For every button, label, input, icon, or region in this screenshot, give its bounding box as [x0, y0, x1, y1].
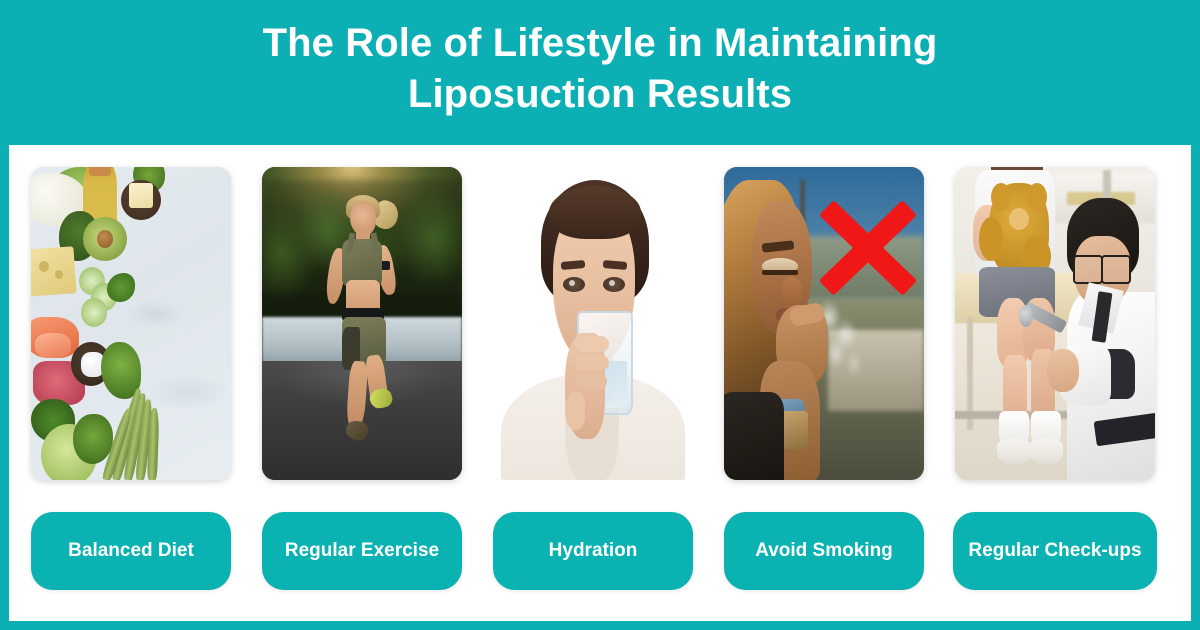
lifestyle-label-avoid-smoking[interactable]: Avoid Smoking — [724, 512, 924, 590]
woman-jogging-photo — [262, 167, 462, 480]
healthy-food-flatlay-photo — [31, 167, 231, 480]
woman-drinking-water-photo — [493, 167, 693, 480]
lifestyle-card-regular-exercise[interactable]: Regular Exercise — [262, 145, 462, 621]
lifestyle-label-hydration[interactable]: Hydration — [493, 512, 693, 590]
lifestyle-card-balanced-diet[interactable]: Balanced Diet — [31, 145, 231, 621]
lifestyle-label-regular-exercise[interactable]: Regular Exercise — [262, 512, 462, 590]
doctor-examining-child-photo — [955, 167, 1155, 480]
page-title: The Role of Lifestyle in Maintaining Lip… — [210, 18, 990, 120]
content-panel: Balanced Diet — [9, 145, 1191, 621]
lifestyle-cards-row: Balanced Diet — [9, 145, 1191, 621]
lifestyle-card-avoid-smoking[interactable]: Avoid Smoking — [724, 145, 924, 621]
woman-smoking-crossed-out-photo — [724, 167, 924, 480]
infographic-page: The Role of Lifestyle in Maintaining Lip… — [0, 0, 1200, 630]
lifestyle-label-regular-checkups[interactable]: Regular Check-ups — [953, 512, 1157, 590]
red-x-icon — [818, 186, 918, 311]
lifestyle-label-balanced-diet[interactable]: Balanced Diet — [31, 512, 231, 590]
lifestyle-card-regular-checkups[interactable]: Regular Check-ups — [955, 145, 1155, 621]
header-banner: The Role of Lifestyle in Maintaining Lip… — [0, 0, 1200, 137]
lifestyle-card-hydration[interactable]: Hydration — [493, 145, 693, 621]
